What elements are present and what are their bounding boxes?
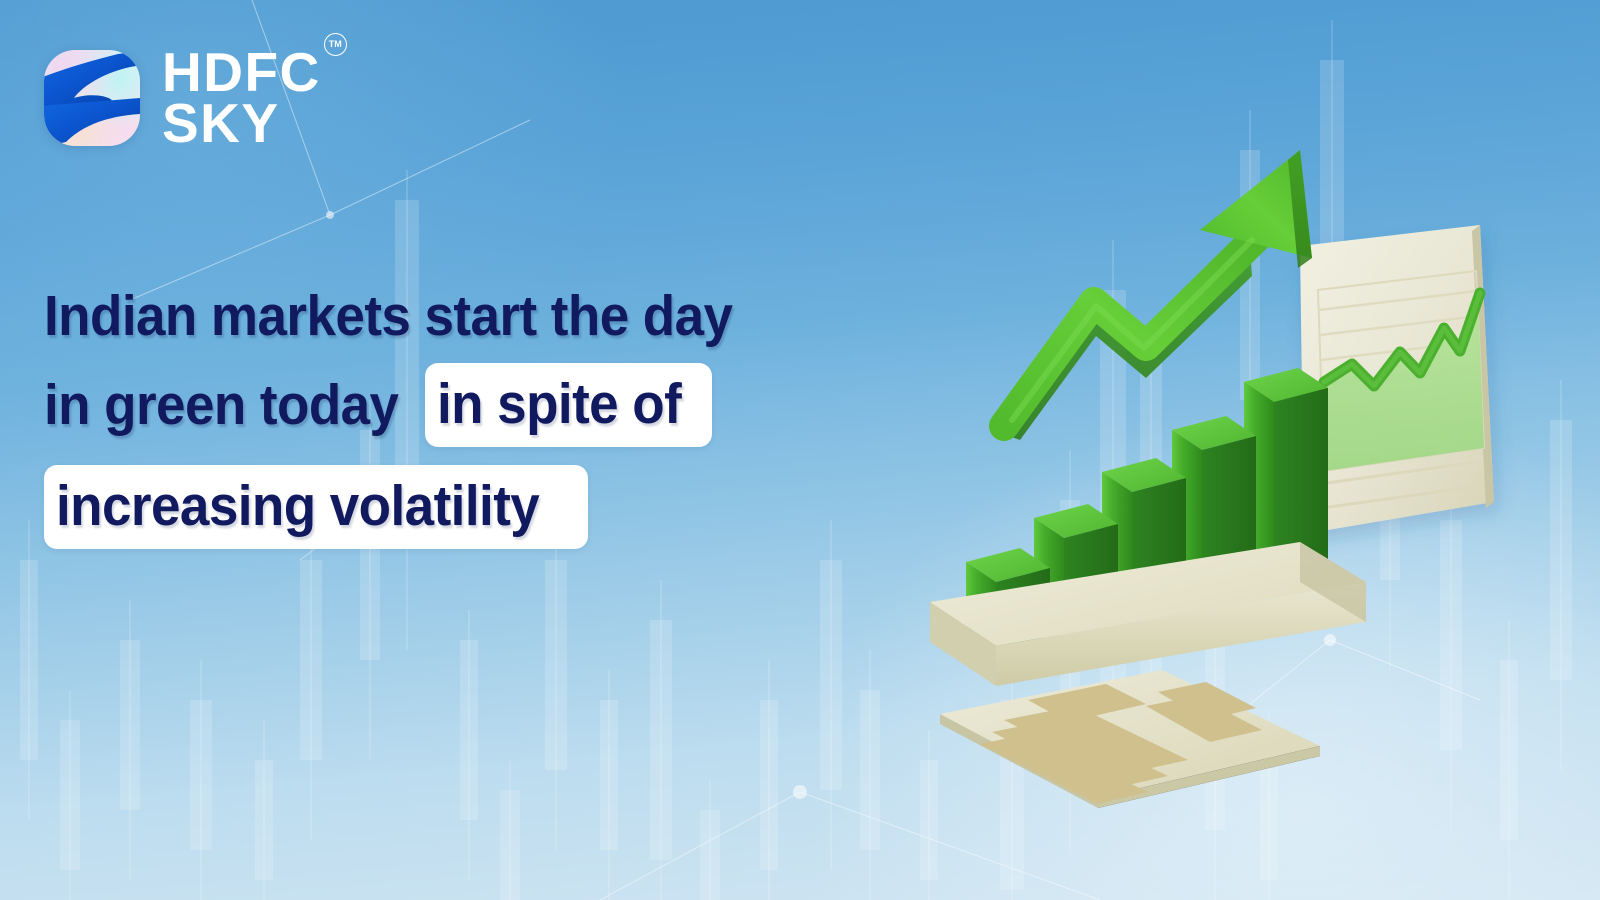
background-candle-wick: [129, 600, 131, 880]
background-candle-wick: [28, 520, 30, 820]
headline-line-1: Indian markets start the day: [44, 288, 874, 345]
headline-line-2-highlight-text: in spite of: [437, 376, 681, 433]
background-candle-wick: [768, 660, 770, 900]
background-candle-wick: [555, 520, 557, 850]
brand-wordmark: HDFC SKY TM: [162, 47, 321, 148]
background-candle-wick: [709, 780, 711, 900]
background-candle-body: [190, 700, 212, 850]
brand-name-line2: SKY: [162, 98, 321, 149]
brand-name-line1: HDFC: [162, 47, 321, 98]
background-candle-body: [860, 690, 880, 850]
brand-logo[interactable]: HDFC SKY TM: [44, 47, 321, 148]
report-document-panel: [1300, 225, 1494, 534]
report-card: [940, 670, 1320, 808]
headline-highlight-box-2: increasing volatility: [44, 465, 588, 549]
background-candle-body: [760, 700, 778, 870]
background-candle-body: [545, 560, 567, 770]
background-candle-body: [650, 620, 672, 860]
background-candle-wick: [200, 660, 202, 900]
headline-line-2-plain-text: in green today: [44, 377, 398, 434]
background-candle-wick: [830, 520, 832, 870]
background-candle-wick: [263, 720, 265, 900]
headline-line-1-text: Indian markets start the day: [44, 288, 732, 345]
background-candle-body: [500, 790, 520, 900]
headline-line-2: in green todayin spite of: [44, 363, 874, 447]
banner-canvas: HDFC SKY TM Indian markets start the day…: [0, 0, 1600, 900]
trademark-icon: TM: [324, 33, 347, 56]
hdfc-sky-logo-mark-icon: [44, 50, 140, 146]
background-candle-body: [700, 810, 720, 900]
background-candle-body: [600, 700, 618, 850]
background-candle-wick: [310, 520, 312, 840]
background-candle-wick: [468, 610, 470, 880]
background-candle-wick: [69, 690, 71, 900]
background-candle-wick: [869, 650, 871, 900]
background-candle-body: [20, 560, 38, 760]
background-candle-body: [460, 640, 478, 820]
background-candle-wick: [608, 670, 610, 900]
background-candle-wick: [660, 580, 662, 900]
headline-line-3: increasing volatility: [44, 465, 874, 549]
background-candle-body: [60, 720, 80, 870]
headline: Indian markets start the day in green to…: [44, 288, 874, 549]
background-candle-wick: [509, 760, 511, 900]
background-candle-body: [120, 640, 140, 810]
background-candle-body: [820, 560, 842, 790]
growth-chart-illustration: [900, 130, 1580, 810]
background-candle-body: [255, 760, 273, 880]
headline-line-3-highlight-text: increasing volatility: [56, 478, 539, 535]
headline-highlight-box-1: in spite of: [425, 363, 712, 447]
background-candle-body: [300, 560, 322, 760]
